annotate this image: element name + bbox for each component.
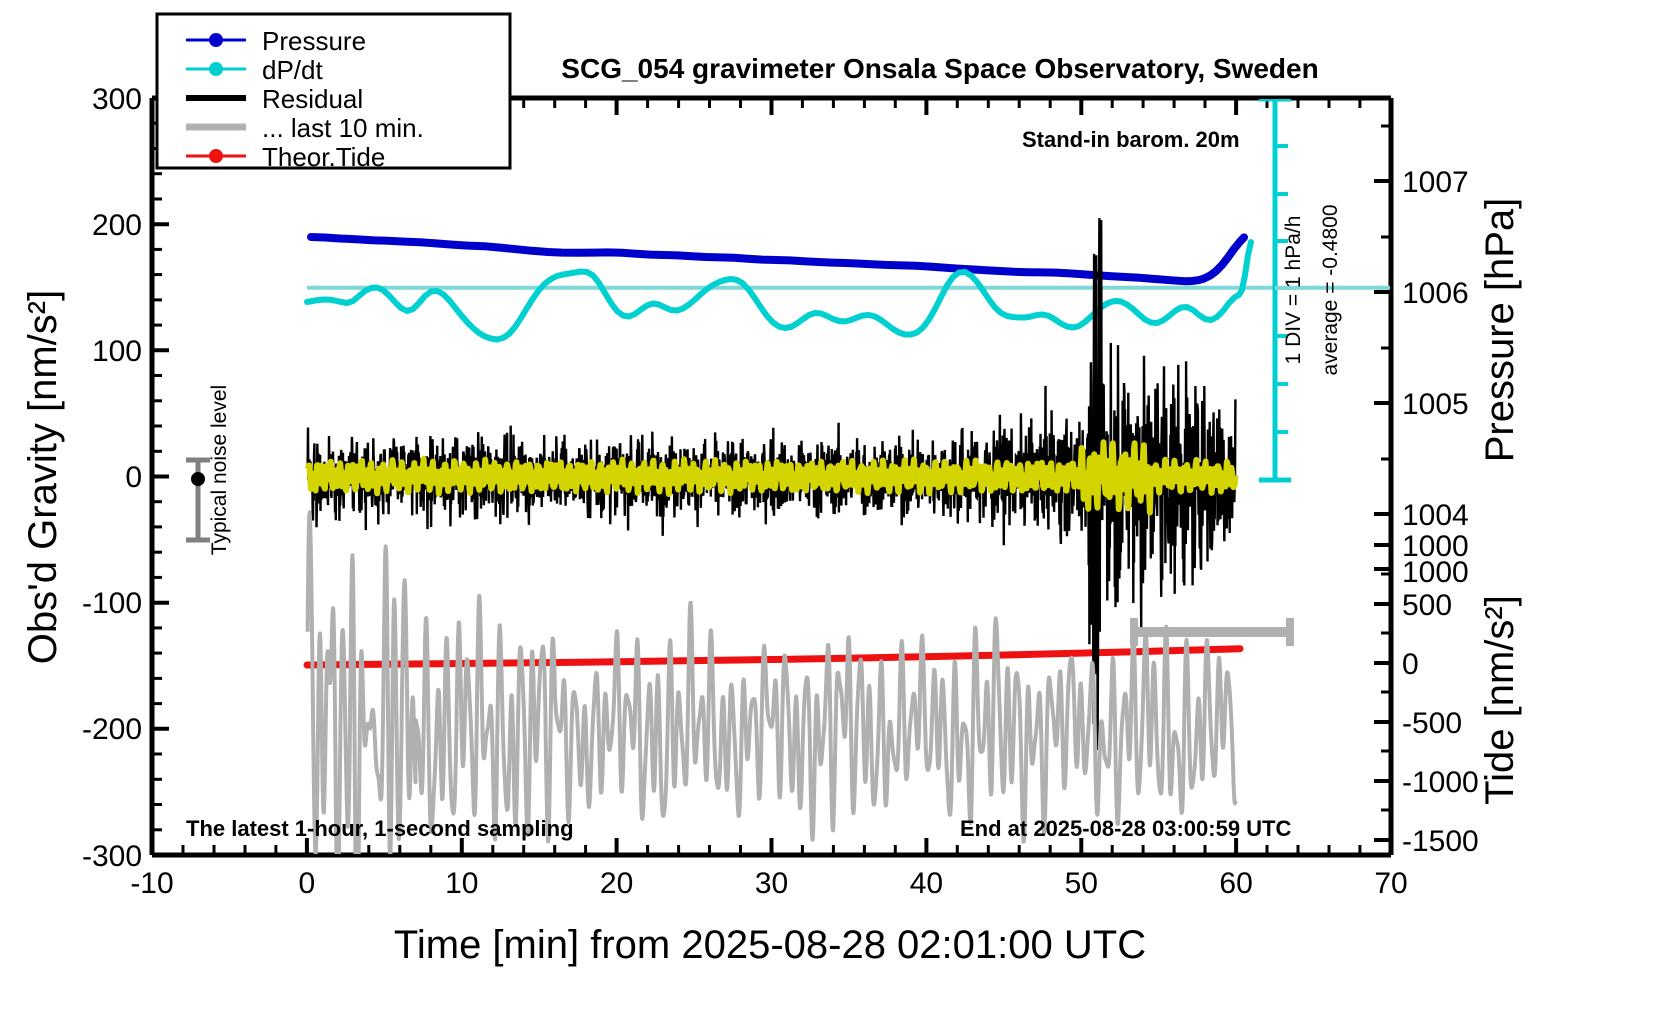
y-left-tick-label: 100 xyxy=(92,335,142,368)
annotation-div-scale: 1 DIV = 1 hPa/h xyxy=(1282,216,1305,365)
legend-label: Theor.Tide xyxy=(262,142,385,172)
y-tide-tick-label: -1500 xyxy=(1402,825,1479,858)
y-axis-right-pressure-title: Pressure [hPa] xyxy=(1478,198,1522,463)
x-axis-title: Time [min] from 2025-08-28 02:01:00 UTC xyxy=(394,923,1146,967)
gravimeter-chart: -10 0 10 20 30 40 50 60 70 xyxy=(0,0,1660,1020)
y-left-tick-label: 300 xyxy=(92,83,142,116)
y-pressure-tick-label: 1007 xyxy=(1402,166,1469,199)
y-pressure-tick-label: 1006 xyxy=(1402,277,1469,310)
y-pressure-tick-label: 1004 xyxy=(1402,499,1469,532)
y-tide-tick-label: -500 xyxy=(1402,707,1462,740)
annotation-end-time: End at 2025-08-28 03:00:59 UTC xyxy=(960,816,1291,841)
y-axis-right-tide-title: Tide [nm/s²] xyxy=(1478,595,1522,805)
y-tide-tick-label: -1000 xyxy=(1402,766,1479,799)
y-left-tick-label: -300 xyxy=(82,840,142,873)
y-axis-left-title: Obs'd Gravity [nm/s²] xyxy=(21,290,65,664)
annotation-dpdt-average: average = -0.4800 xyxy=(1319,204,1342,375)
y-tide-tick-label: 1000 xyxy=(1402,530,1469,563)
y-tide-tick-label: 500 xyxy=(1402,589,1452,622)
x-tick-label: 40 xyxy=(910,867,943,900)
annotation-typical-noise: Typical noise level xyxy=(208,385,231,555)
x-tick-label: 50 xyxy=(1065,867,1098,900)
annotation-stand-in-barom: Stand-in barom. 20m xyxy=(1022,127,1240,152)
x-tick-label: 60 xyxy=(1219,867,1252,900)
y-left-tick-label: -100 xyxy=(82,587,142,620)
x-tick-label: 0 xyxy=(299,867,316,900)
y-left-tick-label: 0 xyxy=(125,461,142,494)
legend-label: dP/dt xyxy=(262,55,323,85)
annotation-sampling-note: The latest 1-hour, 1-second sampling xyxy=(186,816,574,841)
legend-label: ... last 10 min. xyxy=(262,113,424,143)
x-tick-label: 70 xyxy=(1374,867,1407,900)
x-tick-label: 20 xyxy=(600,867,633,900)
x-tick-label: 30 xyxy=(755,867,788,900)
legend-label: Residual xyxy=(262,84,363,114)
y-tide-tick-label: 0 xyxy=(1402,648,1419,681)
y-pressure-tick-label: 1005 xyxy=(1402,388,1469,421)
y-left-tick-label: -200 xyxy=(82,713,142,746)
page-title: SCG_054 gravimeter Onsala Space Observat… xyxy=(561,53,1318,84)
legend[interactable]: Pressure dP/dt Residual ... last 10 min. xyxy=(157,14,510,172)
x-tick-label: 10 xyxy=(445,867,478,900)
legend-label: Pressure xyxy=(262,26,366,56)
chart-root: -10 0 10 20 30 40 50 60 70 xyxy=(0,0,1660,1020)
y-left-tick-label: 200 xyxy=(92,209,142,242)
